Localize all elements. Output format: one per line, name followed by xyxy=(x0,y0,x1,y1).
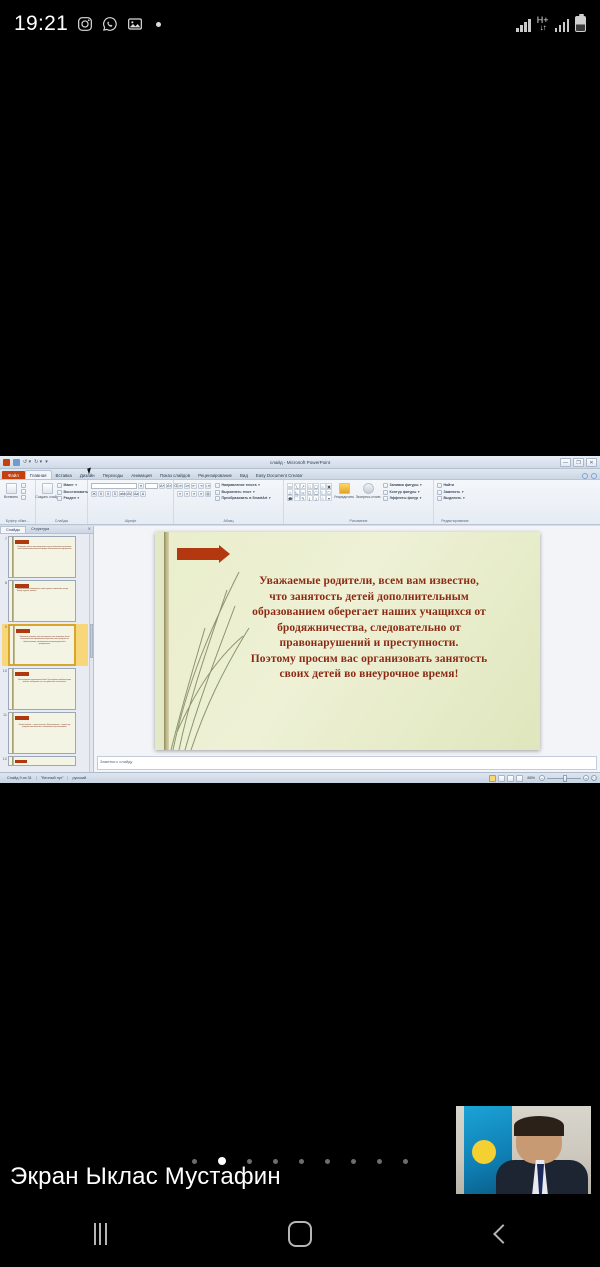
screen-share-caption: Экран Ыклас Мустафин xyxy=(10,1163,281,1191)
smartart-button[interactable]: Преобразовать в SmartArt ▾ xyxy=(215,496,271,502)
tab-view[interactable]: Вид xyxy=(236,471,252,479)
shape-box-icon[interactable]: ▣ xyxy=(326,483,332,489)
slide-stripe-decor xyxy=(12,537,14,577)
font-size-input[interactable] xyxy=(145,483,158,489)
strikethrough-button[interactable]: abc xyxy=(119,491,125,497)
numbering-icon[interactable]: 1≡ xyxy=(184,483,190,489)
replace-label: Заменить xyxy=(444,490,461,496)
thumbnail-text: Каждый ребёнок — яркая личность. Задача … xyxy=(17,725,72,730)
quick-styles-label: Экспресс-стили xyxy=(356,495,381,499)
decrease-font-icon[interactable]: A˅ xyxy=(166,483,172,489)
font-name-dropdown-icon[interactable]: ▾ xyxy=(138,483,144,489)
slide-left-edge-decor xyxy=(155,532,164,750)
reset-label: Восстановить xyxy=(64,490,89,496)
shape-star-icon[interactable]: ☆ xyxy=(320,495,326,501)
shape-fill-label: Заливка фигуры xyxy=(390,483,419,489)
ribbon-group-font: ▾ A˄ A˅ ⌫ Ж К Ч S abc AV Aa A Шрифт xyxy=(88,480,174,524)
slide-arrow-decor xyxy=(15,760,27,763)
battery-icon xyxy=(575,16,586,32)
slide-arrow-shape[interactable] xyxy=(177,548,219,560)
underline-button[interactable]: Ч xyxy=(105,491,111,497)
shape-triangle-icon[interactable]: △ xyxy=(287,489,293,495)
slides-panel-scrollbar[interactable] xyxy=(89,534,93,772)
thumbnail-preview[interactable]: Уважаемые родители, всем вам известно, ч… xyxy=(8,624,76,666)
thumbnail-preview[interactable]: Дополнительное образование: спорт, музык… xyxy=(8,580,76,622)
page-dot[interactable] xyxy=(377,1159,382,1164)
format-painter-icon[interactable] xyxy=(21,495,26,500)
shapes-more-icon[interactable]: ▾ xyxy=(326,495,332,501)
thumbnail-item[interactable]: 10 Роль родителей в воспитании детей. Ор… xyxy=(2,668,88,710)
theme-name: "Вечный луг" xyxy=(37,776,69,780)
notification-dot-icon xyxy=(156,22,161,27)
ribbon[interactable]: Вставить Буфер обме... Создать слайд xyxy=(0,480,600,525)
slide-arrow-decor xyxy=(15,540,29,544)
minimize-button[interactable]: — xyxy=(560,458,571,467)
group-label-editing: Редактирование xyxy=(437,519,473,524)
tab-transitions[interactable]: Переходы xyxy=(99,471,128,479)
shape-curve-icon[interactable]: ⌒ xyxy=(294,495,300,501)
tab-home[interactable]: Главная xyxy=(25,470,52,479)
shapes-gallery[interactable]: ▭ ╲ ↗ □ ▢ ○ ▣ △ ◺ ⇨ ⬠ ◯ ☾ ⬡ 🗩 ⌒ ✎ xyxy=(287,483,332,501)
reset-icon xyxy=(57,490,62,495)
thumbnail-preview[interactable] xyxy=(8,756,76,766)
zoom-in-button[interactable]: + xyxy=(583,775,589,781)
participant-video-thumbnail[interactable] xyxy=(456,1106,591,1194)
slide-stripe-decor xyxy=(12,669,14,709)
shared-screen-powerpoint[interactable]: ↺ ▾ ↻ ▾ ▾ слайд - Microsoft PowerPoint —… xyxy=(0,456,600,783)
arrange-button[interactable]: Упорядочить xyxy=(334,483,354,499)
replace-button[interactable]: Заменить ▾ xyxy=(437,490,465,496)
help-icon[interactable] xyxy=(591,473,597,479)
slide-arrow-decor xyxy=(15,584,29,588)
shape-square-icon[interactable]: □ xyxy=(307,483,313,489)
slide-arrow-decor xyxy=(15,716,29,720)
shape-rounded-icon[interactable]: ▢ xyxy=(313,483,319,489)
tab-insert[interactable]: Вставка xyxy=(52,471,76,479)
find-label: Найти xyxy=(444,483,455,489)
section-button[interactable]: Раздел ▾ xyxy=(57,496,88,502)
section-label: Раздел xyxy=(64,496,76,502)
new-slide-icon xyxy=(42,483,53,494)
thumbnail-text: Дополнительное образование: спорт, музык… xyxy=(17,589,72,594)
slide-text-line: бродяжничества, следовательно от xyxy=(215,621,524,637)
shape-arrow-icon[interactable]: ↗ xyxy=(300,483,306,489)
participant-hair xyxy=(514,1116,564,1136)
quick-styles-icon xyxy=(363,483,374,494)
copy-icon[interactable] xyxy=(21,489,26,494)
paste-button[interactable]: Вставить xyxy=(3,483,19,499)
thumbnail-number: 10 xyxy=(2,668,7,673)
flag-sun-icon xyxy=(472,1140,496,1164)
shape-effects-button[interactable]: Эффекты фигур ▾ xyxy=(383,496,422,502)
align-center-icon[interactable]: ≡ xyxy=(184,491,190,497)
shape-outline-button[interactable]: Контур фигуры ▾ xyxy=(383,490,422,496)
ribbon-group-drawing: ▭ ╲ ↗ □ ▢ ○ ▣ △ ◺ ⇨ ⬠ ◯ ☾ ⬡ 🗩 ⌒ ✎ xyxy=(284,480,434,524)
shape-arrow2-icon[interactable]: ⇨ xyxy=(300,489,306,495)
slide-sorter-view-button[interactable] xyxy=(498,775,505,782)
shape-pentagon-icon[interactable]: ⬠ xyxy=(307,489,313,495)
ribbon-group-editing: Найти Заменить ▾ Выделить ▾ Редактирован… xyxy=(434,480,476,524)
normal-view-button[interactable] xyxy=(489,775,496,782)
thumbnail-item[interactable]: 12 xyxy=(2,756,88,766)
shape-effects-label: Эффекты фигур xyxy=(390,496,419,502)
panel-tab-slides[interactable]: Слайды xyxy=(0,526,26,533)
layout-icon xyxy=(57,483,62,488)
page-dot[interactable] xyxy=(403,1159,408,1164)
select-label: Выделить xyxy=(444,496,462,502)
page-dot[interactable] xyxy=(325,1159,330,1164)
zoom-level: 88% xyxy=(525,776,537,780)
new-slide-label: Создать слайд xyxy=(35,495,58,499)
align-text-label: Выровнять текст xyxy=(222,490,252,496)
android-status-bar: 19:21 H+↓↑ xyxy=(0,0,600,48)
thumbnail-item[interactable]: 8 Дополнительное образование: спорт, муз… xyxy=(2,580,88,622)
zoom-slider[interactable] xyxy=(547,778,581,779)
ribbon-collapse-icon[interactable] xyxy=(582,473,588,479)
shape-right-triangle-icon[interactable]: ◺ xyxy=(294,489,300,495)
thumbnail-preview[interactable]: В практике школ и школ-интернатов в целя… xyxy=(8,536,76,578)
panel-tab-outline[interactable]: Структура xyxy=(26,526,54,533)
tab-design[interactable]: Дизайн xyxy=(76,471,99,479)
hplus-data-icon: H+↓↑ xyxy=(537,16,549,32)
shape-brace2-icon[interactable]: } xyxy=(313,495,319,501)
character-spacing-button[interactable]: AV xyxy=(126,491,132,497)
thumbnail-number: 7 xyxy=(2,536,7,541)
status-clock: 19:21 xyxy=(14,12,68,36)
slide-text-line: что занятость детей дополнительным xyxy=(215,590,524,606)
thumbnail-item-selected[interactable]: 9 Уважаемые родители, всем вам известно,… xyxy=(2,624,88,666)
window-title: слайд - Microsoft PowerPoint xyxy=(0,460,600,465)
shape-effects-icon xyxy=(383,496,388,501)
tab-easy-document-creator[interactable]: Easy Document Creator xyxy=(252,471,307,479)
recents-button[interactable] xyxy=(0,1223,200,1245)
font-color-button[interactable]: A xyxy=(140,491,146,497)
thumbnail-preview[interactable]: Каждый ребёнок — яркая личность. Задача … xyxy=(8,712,76,754)
align-text-button[interactable]: Выровнять текст ▾ xyxy=(215,490,271,496)
shape-oval-icon[interactable]: ○ xyxy=(320,483,326,489)
increase-indent-icon[interactable]: ⇥ xyxy=(198,483,204,489)
close-button[interactable]: ✕ xyxy=(586,458,597,467)
replace-icon xyxy=(437,490,442,495)
group-label-slides: Слайды xyxy=(39,519,84,524)
select-button[interactable]: Выделить ▾ xyxy=(437,496,465,502)
increase-font-icon[interactable]: A˄ xyxy=(159,483,165,489)
text-direction-icon xyxy=(215,483,220,488)
layout-label: Макет xyxy=(64,483,74,489)
thumbnail-preview[interactable]: Роль родителей в воспитании детей. Орган… xyxy=(8,668,76,710)
slide-stripe-decor xyxy=(12,757,14,765)
thumbnail-text: Уважаемые родители, всем вам известно, ч… xyxy=(18,637,71,646)
thumbnail-number: 11 xyxy=(2,712,7,717)
thumbnail-item[interactable]: 11 Каждый ребёнок — яркая личность. Зада… xyxy=(2,712,88,754)
signal-bars-icon xyxy=(516,19,531,32)
layout-button[interactable]: Макет ▾ xyxy=(57,483,88,489)
slide-text-line: образованием оберегает наших учащихся от xyxy=(215,605,524,621)
section-icon xyxy=(57,496,62,501)
powerpoint-work-area: Слайды Структура ✕ 7 В практике школ и ш… xyxy=(0,526,600,772)
powerpoint-status-bar: Слайд 9 из 31 "Вечный луг" русский 88% −… xyxy=(0,772,600,783)
status-left-group: 19:21 xyxy=(14,12,161,36)
search-icon xyxy=(437,483,442,488)
slide-counter: Слайд 9 из 31 xyxy=(3,776,37,780)
cut-icon[interactable] xyxy=(21,483,26,488)
slide-stripe-decor xyxy=(12,581,14,621)
thumbnail-text: Роль родителей в воспитании детей. Орган… xyxy=(17,680,72,685)
shape-fill-button[interactable]: Заливка фигуры ▾ xyxy=(383,483,422,489)
italic-button[interactable]: К xyxy=(98,491,104,497)
quick-styles-button[interactable]: Экспресс-стили xyxy=(356,483,380,499)
paste-icon xyxy=(6,483,17,494)
paste-label: Вставить xyxy=(4,495,18,499)
instagram-icon xyxy=(77,16,93,32)
text-direction-label: Направление текста xyxy=(222,483,257,489)
thumbnail-number: 12 xyxy=(2,756,7,761)
reset-button[interactable]: Восстановить xyxy=(57,490,88,496)
slide-vertical-stripe-decor xyxy=(164,532,169,750)
new-slide-button[interactable]: Создать слайд xyxy=(39,483,55,499)
group-label-clipboard: Буфер обме... xyxy=(3,519,32,524)
page-dot[interactable] xyxy=(351,1159,356,1164)
shape-hex-icon[interactable]: ⬡ xyxy=(326,489,332,495)
tab-review[interactable]: Рецензирование xyxy=(194,471,236,479)
status-right-group: H+↓↑ xyxy=(516,16,586,32)
thumbnail-list[interactable]: 7 В практике школ и школ-интернатов в це… xyxy=(0,534,89,772)
slide-stripe-decor xyxy=(13,626,15,664)
shape-outline-icon xyxy=(383,490,388,495)
thumbnail-text: В практике школ и школ-интернатов в целя… xyxy=(17,547,72,552)
group-label-font: Шрифт xyxy=(91,519,170,524)
smartart-icon xyxy=(215,496,220,501)
arrange-label: Упорядочить xyxy=(334,495,354,499)
slideshow-view-button[interactable] xyxy=(516,775,523,782)
slide-text-line: Уважаемые родители, всем вам известно, xyxy=(215,574,524,590)
bullets-icon[interactable]: •≡ xyxy=(177,483,183,489)
shape-outline-label: Контур фигуры xyxy=(390,490,417,496)
shape-brace-icon[interactable]: { xyxy=(307,495,313,501)
recents-icon xyxy=(94,1223,107,1245)
slides-panel-tabs[interactable]: Слайды Структура ✕ xyxy=(0,526,93,534)
panel-close-icon[interactable]: ✕ xyxy=(86,526,93,533)
zoom-out-button[interactable]: − xyxy=(539,775,545,781)
find-button[interactable]: Найти xyxy=(437,483,465,489)
notes-pane[interactable]: Заметки к слайду xyxy=(97,756,597,770)
reading-view-button[interactable] xyxy=(507,775,514,782)
tab-slideshow[interactable]: Показ слайдов xyxy=(156,471,194,479)
change-case-button[interactable]: Aa xyxy=(133,491,139,497)
back-icon xyxy=(493,1224,513,1244)
current-slide[interactable]: Уважаемые родители, всем вам известно, ч… xyxy=(155,532,540,750)
android-navigation-bar[interactable] xyxy=(0,1200,600,1267)
slide-editor[interactable]: Уважаемые родители, всем вам известно, ч… xyxy=(94,526,600,772)
signal-bars-2-icon xyxy=(555,19,570,32)
decrease-indent-icon[interactable]: ⇤ xyxy=(191,483,197,489)
restore-button[interactable]: ❐ xyxy=(573,458,584,467)
thumbnail-number: 8 xyxy=(2,580,7,585)
thumbnail-number: 9 xyxy=(2,624,7,629)
ribbon-group-paragraph: •≡ 1≡ ⇤ ⇥ ↕≡ ≡ ≡ ≡ ≡ ▥ xyxy=(174,480,284,524)
shape-rect-icon[interactable]: ▭ xyxy=(287,483,293,489)
bold-button[interactable]: Ж xyxy=(91,491,97,497)
line-spacing-icon[interactable]: ↕≡ xyxy=(205,483,211,489)
slide-body-text[interactable]: Уважаемые родители, всем вам известно, ч… xyxy=(215,574,524,683)
align-text-icon xyxy=(215,490,220,495)
thumbnail-item[interactable]: 7 В практике школ и школ-интернатов в це… xyxy=(2,536,88,578)
smartart-label: Преобразовать в SmartArt xyxy=(222,496,268,502)
shape-moon-icon[interactable]: ☾ xyxy=(320,489,326,495)
home-button[interactable] xyxy=(200,1221,400,1247)
slide-arrow-decor xyxy=(16,629,30,633)
shape-line-icon[interactable]: ╲ xyxy=(294,483,300,489)
whatsapp-icon xyxy=(102,16,118,32)
home-icon xyxy=(288,1221,312,1247)
justify-icon[interactable]: ≡ xyxy=(198,491,204,497)
slide-canvas[interactable]: Уважаемые родители, всем вам известно, ч… xyxy=(97,528,597,754)
font-name-input[interactable] xyxy=(91,483,137,489)
align-right-icon[interactable]: ≡ xyxy=(191,491,197,497)
arrange-icon xyxy=(339,483,350,494)
gallery-icon xyxy=(127,16,143,32)
tab-file[interactable]: Файл xyxy=(2,471,25,479)
fit-to-window-button[interactable]: ⛶ xyxy=(591,775,597,781)
slides-panel[interactable]: Слайды Структура ✕ 7 В практике школ и ш… xyxy=(0,526,94,772)
text-direction-button[interactable]: Направление текста ▾ xyxy=(215,483,271,489)
tab-animations[interactable]: Анимация xyxy=(127,471,156,479)
ribbon-group-clipboard: Вставить Буфер обме... xyxy=(0,480,36,524)
group-label-drawing: Рисование xyxy=(287,519,430,524)
shape-callout-icon[interactable]: 🗩 xyxy=(287,495,293,501)
slide-arrow-decor xyxy=(15,672,29,676)
language-indicator: русский xyxy=(68,776,90,780)
slide-text-line: правонарушений и преступности. xyxy=(215,636,524,652)
slide-stripe-decor xyxy=(12,713,14,753)
align-left-icon[interactable]: ≡ xyxy=(177,491,183,497)
shape-freeform-icon[interactable]: ✎ xyxy=(300,495,306,501)
columns-icon[interactable]: ▥ xyxy=(205,491,211,497)
select-icon xyxy=(437,496,442,501)
group-label-paragraph: Абзац xyxy=(177,519,280,524)
shape-fill-icon xyxy=(383,483,388,488)
slide-text-line: Поэтому просим вас организовать занятост… xyxy=(215,652,524,668)
shadow-button[interactable]: S xyxy=(112,491,118,497)
ribbon-group-slides: Создать слайд Макет ▾ Восстановить Разде… xyxy=(36,480,88,524)
window-controls[interactable]: — ❐ ✕ xyxy=(560,458,597,467)
slide-text-line: своих детей во внеурочное время! xyxy=(215,667,524,683)
view-and-zoom-controls[interactable]: 88% − + ⛶ xyxy=(489,775,597,782)
shape-circle2-icon[interactable]: ◯ xyxy=(313,489,319,495)
page-dot[interactable] xyxy=(299,1159,304,1164)
back-button[interactable] xyxy=(400,1227,600,1241)
